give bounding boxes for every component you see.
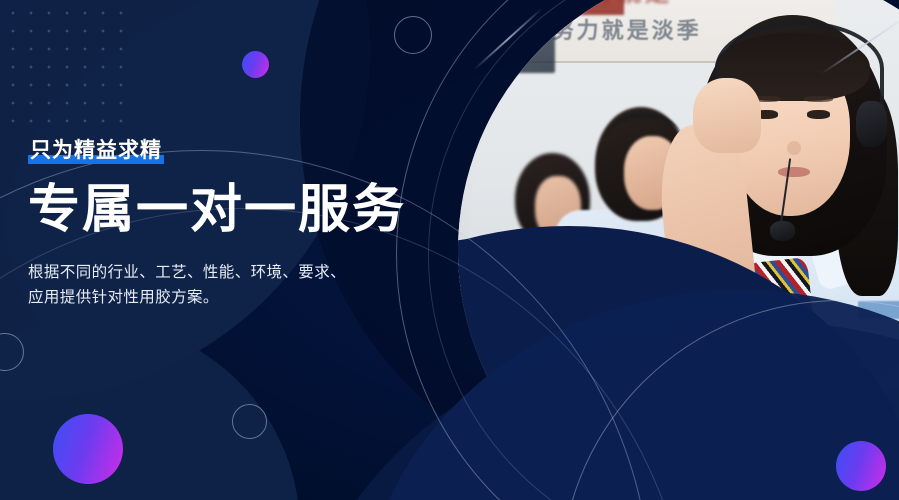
promo-banner: 努力就是 不努力就是淡季 (0, 0, 899, 500)
kicker-wrapper: 只为精益求精 (28, 140, 164, 164)
banner-copy: 只为精益求精 专属一对一服务 根据不同的行业、工艺、性能、环境、要求、 应用提供… (28, 140, 428, 310)
gradient-dot-small (242, 51, 269, 78)
gradient-dot-large (53, 414, 123, 484)
decorative-ring-bottom (232, 404, 267, 439)
banner-description-line-2: 应用提供针对性用胶方案。 (28, 285, 400, 310)
banner-title: 专属一对一服务 (28, 182, 428, 238)
banner-description-line-1: 根据不同的行业、工艺、性能、环境、要求、 (28, 260, 400, 285)
decorative-ring-top (394, 16, 432, 54)
banner-kicker: 只为精益求精 (28, 140, 164, 164)
gradient-dot-bottom-right (836, 441, 886, 491)
banner-description: 根据不同的行业、工艺、性能、环境、要求、 应用提供针对性用胶方案。 (28, 260, 400, 310)
